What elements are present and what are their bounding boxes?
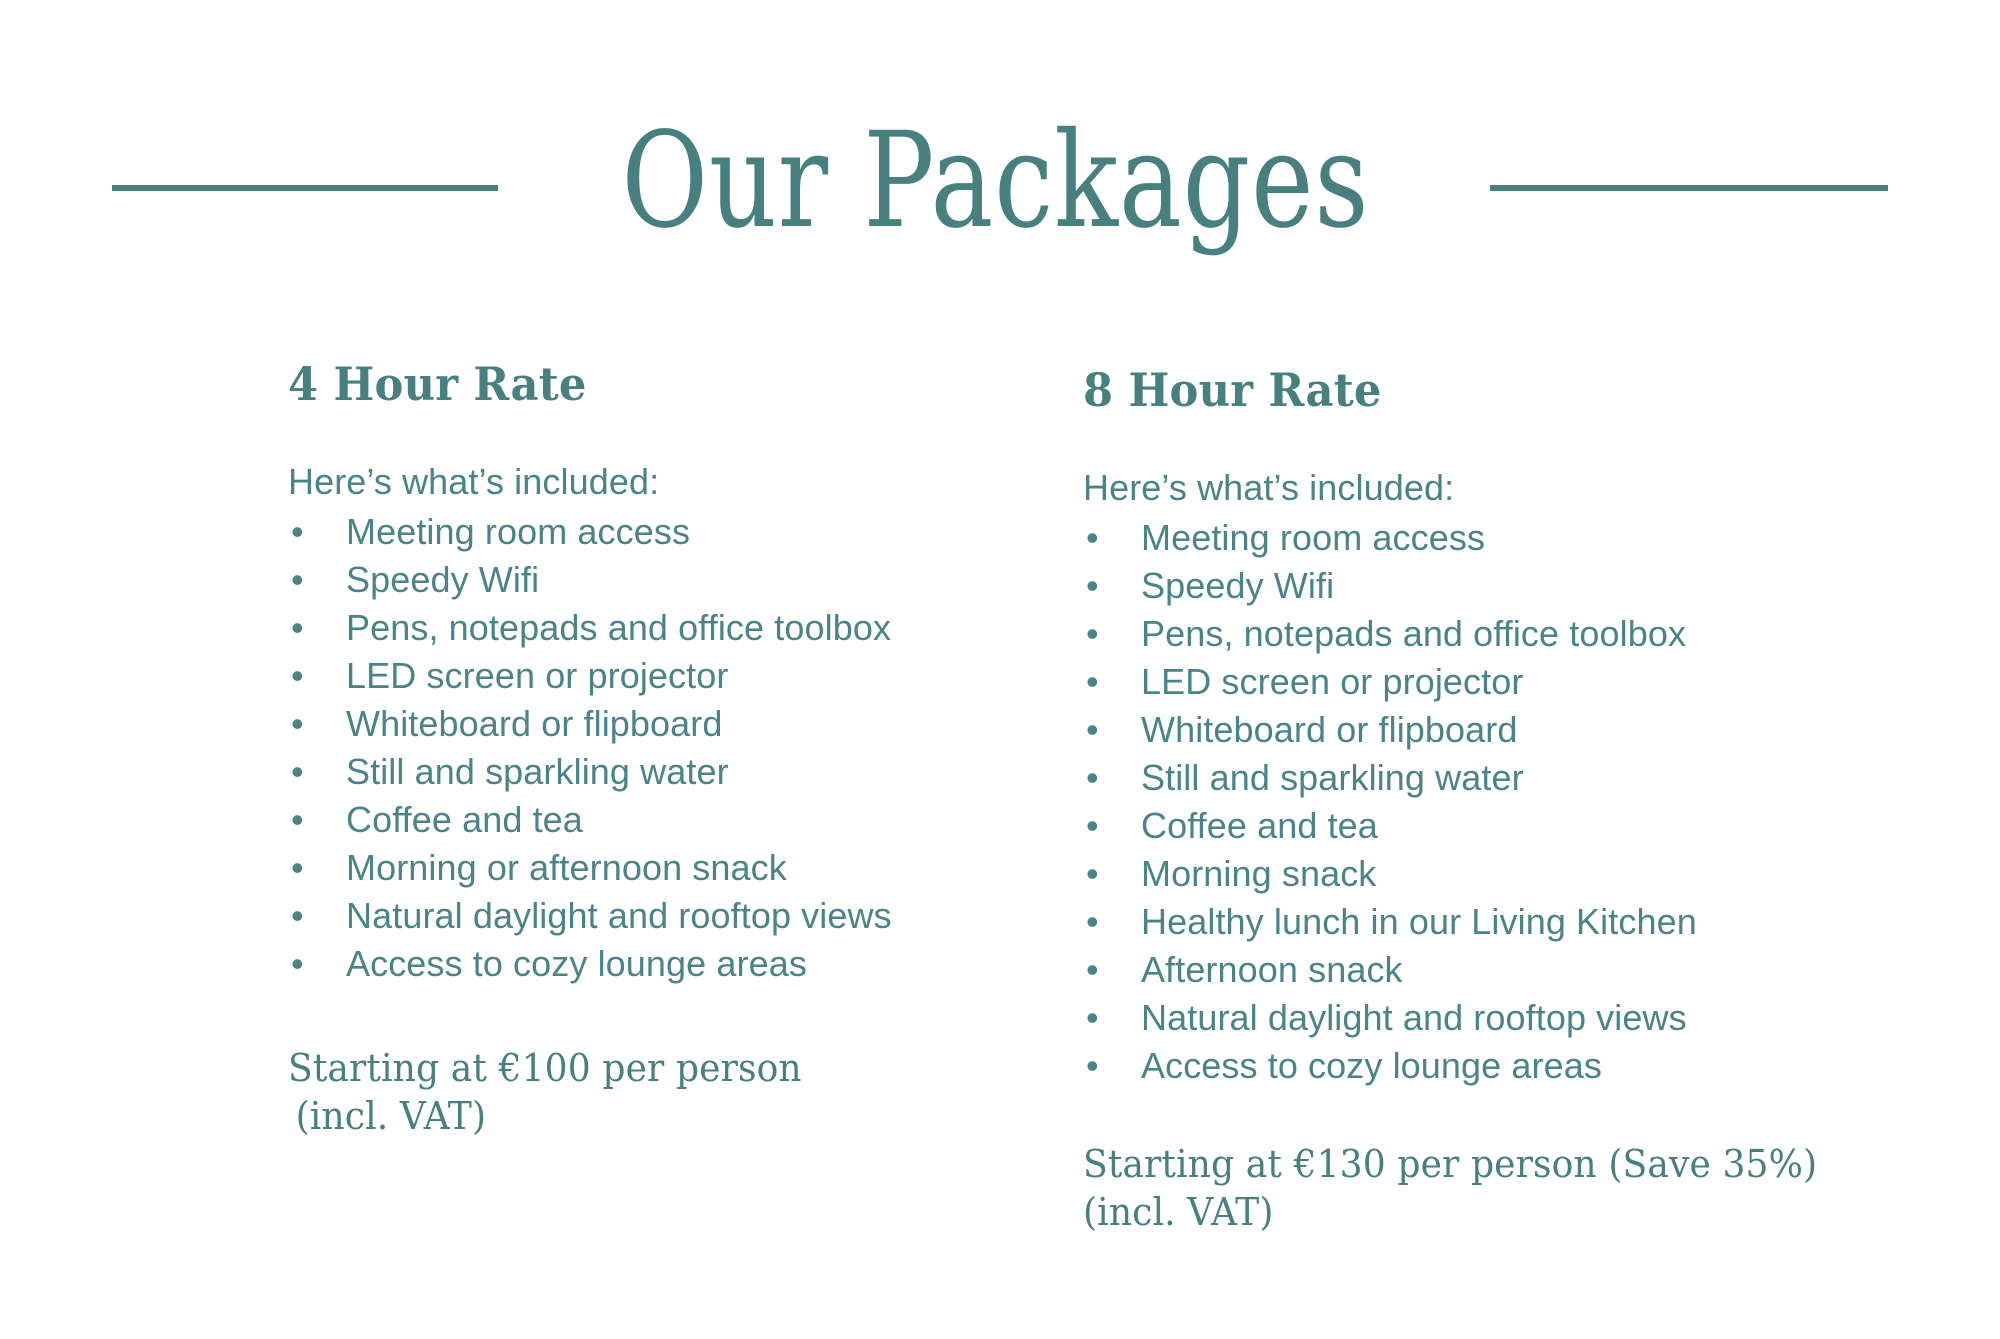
list-item-label: Access to cozy lounge areas [346, 943, 807, 984]
price-primary: Starting at €130 per person (Save 35%) [1083, 1140, 1843, 1188]
list-item-label: Natural daylight and rooftop views [346, 895, 892, 936]
included-lead-4-hour: Here’s what’s included: [288, 458, 1008, 506]
list-item-label: Natural daylight and rooftop views [1141, 997, 1687, 1038]
package-heading-4-hour: 4 Hour Rate [288, 360, 965, 410]
included-lead-8-hour: Here’s what’s included: [1083, 464, 1883, 512]
page-title: Our Packages [621, 115, 1369, 261]
bullet-icon: • [291, 940, 304, 988]
list-item: • Speedy Wifi [288, 556, 1008, 604]
list-item-label: Still and sparkling water [1141, 757, 1524, 798]
package-column-4-hour: 4 Hour Rate Here’s what’s included: • Me… [288, 360, 1008, 1140]
list-item-label: Speedy Wifi [346, 559, 539, 600]
list-item: • Pens, notepads and office toolbox [288, 604, 1008, 652]
list-item: • Meeting room access [288, 508, 1008, 556]
title-rule-left [112, 185, 498, 191]
slide-canvas: Our Packages 4 Hour Rate Here’s what’s i… [0, 0, 2000, 1339]
bullet-icon: • [291, 796, 304, 844]
bullet-icon: • [291, 604, 304, 652]
list-item-label: Meeting room access [1141, 517, 1485, 558]
list-item: • Still and sparkling water [288, 748, 1008, 796]
list-item-label: Meeting room access [346, 511, 690, 552]
bullet-icon: • [1086, 706, 1099, 754]
bullet-icon: • [1086, 610, 1099, 658]
list-item-label: Still and sparkling water [346, 751, 729, 792]
bullet-icon: • [291, 508, 304, 556]
list-item-label: Afternoon snack [1141, 949, 1403, 990]
list-item: • Natural daylight and rooftop views [1083, 994, 1883, 1042]
list-item: • Access to cozy lounge areas [288, 940, 1008, 988]
list-item: • Meeting room access [1083, 514, 1883, 562]
price-block-4-hour: Starting at €100 per person (incl. VAT) [288, 1044, 972, 1140]
list-item-label: Pens, notepads and office toolbox [1141, 613, 1686, 654]
list-item: • Coffee and tea [288, 796, 1008, 844]
list-item-label: Coffee and tea [346, 799, 583, 840]
package-heading-8-hour: 8 Hour Rate [1083, 366, 1835, 416]
price-vat-note: (incl. VAT) [1083, 1188, 1843, 1236]
list-item-label: Morning snack [1141, 853, 1376, 894]
list-item: • Whiteboard or flipboard [1083, 706, 1883, 754]
list-item: • LED screen or projector [288, 652, 1008, 700]
bullet-icon: • [1086, 514, 1099, 562]
bullet-icon: • [1086, 850, 1099, 898]
list-item-label: Speedy Wifi [1141, 565, 1334, 606]
list-item-label: Access to cozy lounge areas [1141, 1045, 1602, 1086]
list-item-label: LED screen or projector [346, 655, 728, 696]
list-item: • Healthy lunch in our Living Kitchen [1083, 898, 1883, 946]
list-item-label: Healthy lunch in our Living Kitchen [1141, 901, 1697, 942]
list-item: • Afternoon snack [1083, 946, 1883, 994]
bullet-icon: • [1086, 898, 1099, 946]
list-item: • Pens, notepads and office toolbox [1083, 610, 1883, 658]
bullet-icon: • [1086, 946, 1099, 994]
list-item-label: Coffee and tea [1141, 805, 1378, 846]
page-header: Our Packages [0, 108, 2000, 268]
list-item: • Coffee and tea [1083, 802, 1883, 850]
bullet-icon: • [291, 892, 304, 940]
bullet-icon: • [1086, 754, 1099, 802]
list-item: • Still and sparkling water [1083, 754, 1883, 802]
list-item: • Access to cozy lounge areas [1083, 1042, 1883, 1090]
bullet-icon: • [291, 844, 304, 892]
bullet-icon: • [1086, 994, 1099, 1042]
bullet-icon: • [1086, 802, 1099, 850]
list-item: • Whiteboard or flipboard [288, 700, 1008, 748]
list-item: • Morning snack [1083, 850, 1883, 898]
list-item: • Speedy Wifi [1083, 562, 1883, 610]
feature-list-4-hour: • Meeting room access • Speedy Wifi • Pe… [288, 508, 1008, 988]
bullet-icon: • [291, 652, 304, 700]
price-vat-note: (incl. VAT) [288, 1092, 972, 1140]
bullet-icon: • [1086, 562, 1099, 610]
list-item-label: Morning or afternoon snack [346, 847, 787, 888]
title-rule-right [1490, 185, 1888, 191]
package-column-8-hour: 8 Hour Rate Here’s what’s included: • Me… [1083, 366, 1883, 1236]
list-item-label: Pens, notepads and office toolbox [346, 607, 891, 648]
bullet-icon: • [1086, 1042, 1099, 1090]
list-item-label: Whiteboard or flipboard [346, 703, 723, 744]
list-item: • LED screen or projector [1083, 658, 1883, 706]
list-item-label: Whiteboard or flipboard [1141, 709, 1518, 750]
bullet-icon: • [291, 748, 304, 796]
list-item-label: LED screen or projector [1141, 661, 1523, 702]
price-primary: Starting at €100 per person [288, 1044, 972, 1092]
list-item: • Natural daylight and rooftop views [288, 892, 1008, 940]
price-block-8-hour: Starting at €130 per person (Save 35%) (… [1083, 1140, 1843, 1236]
bullet-icon: • [291, 556, 304, 604]
list-item: • Morning or afternoon snack [288, 844, 1008, 892]
bullet-icon: • [291, 700, 304, 748]
bullet-icon: • [1086, 658, 1099, 706]
feature-list-8-hour: • Meeting room access • Speedy Wifi • Pe… [1083, 514, 1883, 1090]
